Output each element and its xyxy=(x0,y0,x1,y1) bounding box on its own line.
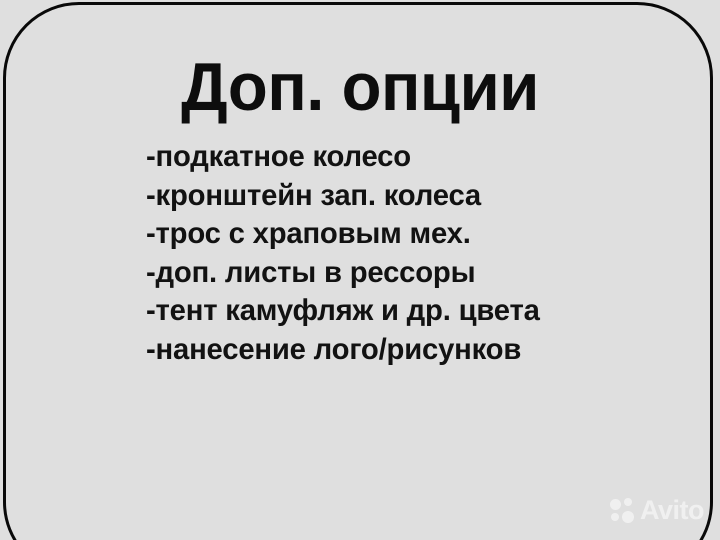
page-title: Доп. опции xyxy=(14,51,705,123)
image-canvas: Доп. опции -подкатное колесо -кронштейн … xyxy=(0,0,720,540)
list-item: -доп. листы в рессоры xyxy=(146,254,540,293)
list-item: -нанесение лого/рисунков xyxy=(146,331,540,370)
list-item: -подкатное колесо xyxy=(146,138,540,177)
list-item: -тент камуфляж и др. цвета xyxy=(146,292,540,331)
list-item: -трос с храповым мех. xyxy=(146,215,540,254)
card-content: Доп. опции -подкатное колесо -кронштейн … xyxy=(0,0,720,540)
list-item: -кронштейн зап. колеса xyxy=(146,177,540,216)
options-list: -подкатное колесо -кронштейн зап. колеса… xyxy=(146,138,550,370)
